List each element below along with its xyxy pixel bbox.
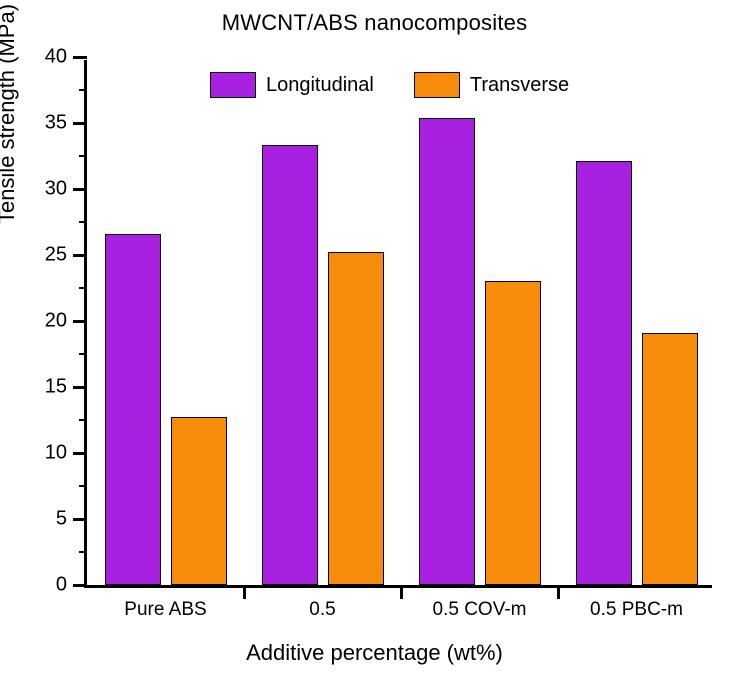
y-axis-tick [73,584,87,587]
y-axis-minor-tick [79,221,87,223]
y-axis-minor-tick [79,485,87,487]
legend-label: Transverse [470,74,569,97]
y-axis-tick [73,320,87,323]
y-axis-tick-label: 20 [45,310,67,333]
bar-transverse-2 [485,281,541,585]
y-axis-minor-tick [79,89,87,91]
y-axis-tick [73,56,87,59]
y-axis-tick [73,254,87,257]
y-axis-tick [73,518,87,521]
y-axis-minor-tick [79,419,87,421]
chart-legend: LongitudinalTransverse [210,72,569,98]
plot-area: 0510152025303540 Pure ABS0.50.5 COV-m0.5… [84,60,712,588]
y-axis-tick-label: 40 [45,46,67,69]
bar-longitudinal-1 [262,145,318,585]
y-axis-tick-label: 10 [45,442,67,465]
bar-transverse-3 [642,333,698,585]
y-axis-tick-label: 25 [45,244,67,267]
x-axis-tick [557,585,560,599]
y-axis-tick-label: 15 [45,376,67,399]
x-axis-tick-label: 0.5 PBC-m [590,599,683,621]
y-axis-minor-tick [79,353,87,355]
x-axis-tick [243,585,246,599]
y-axis-tick [73,122,87,125]
x-axis-title: Additive percentage (wt%) [0,640,749,666]
y-axis-tick [73,386,87,389]
chart-container: MWCNT/ABS nanocomposites 051015202530354… [0,0,749,681]
x-axis-tick-label: 0.5 [309,599,335,621]
legend-label: Longitudinal [266,74,374,97]
y-axis-minor-tick [79,287,87,289]
legend-swatch [414,72,460,98]
bar-longitudinal-2 [419,118,475,585]
chart-title: MWCNT/ABS nanocomposites [0,10,749,36]
y-axis-minor-tick [79,155,87,157]
y-axis-title: Tensile strength (MPa) [0,0,20,324]
legend-item[interactable]: Longitudinal [210,72,374,98]
x-axis-tick-label: 0.5 COV-m [433,599,527,621]
y-axis-tick [73,452,87,455]
y-axis-tick-label: 0 [56,574,67,597]
bar-transverse-1 [328,252,384,585]
y-axis-tick-label: 5 [56,508,67,531]
bar-transverse-0 [171,417,227,585]
bar-longitudinal-0 [105,234,161,585]
y-axis-tick [73,188,87,191]
x-axis-tick [400,585,403,599]
y-axis-tick-label: 35 [45,112,67,135]
y-axis-minor-tick [79,551,87,553]
bar-longitudinal-3 [576,161,632,585]
x-axis-tick-label: Pure ABS [124,599,206,621]
legend-item[interactable]: Transverse [414,72,569,98]
legend-swatch [210,72,256,98]
y-axis-tick-label: 30 [45,178,67,201]
bars-layer [87,60,712,585]
